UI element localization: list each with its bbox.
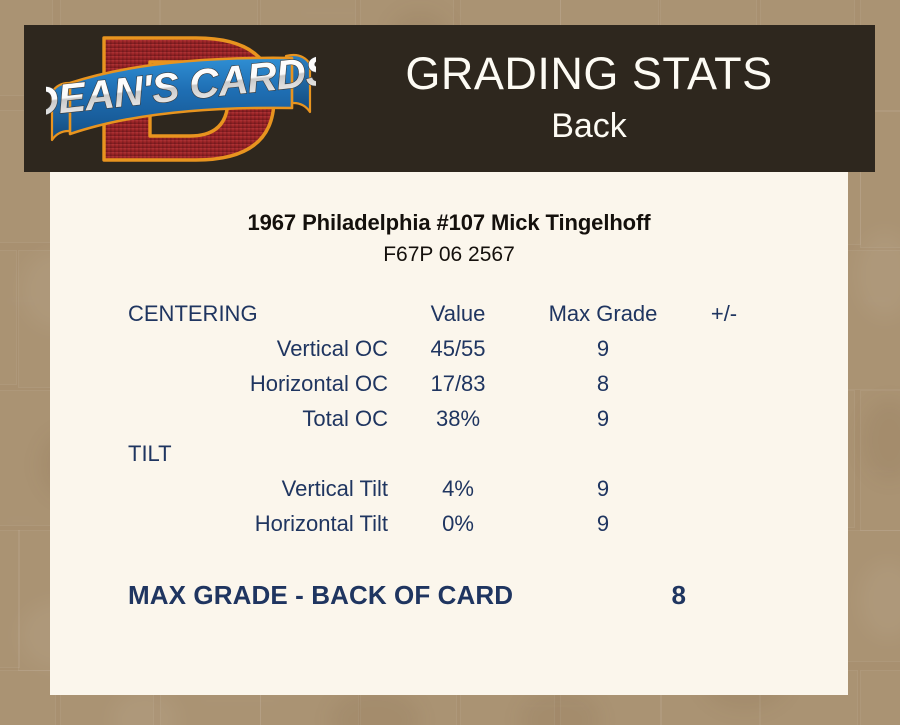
table-row: Vertical Tilt4%9 xyxy=(128,471,770,506)
card-heading: 1967 Philadelphia #107 Mick Tingelhoff F… xyxy=(50,209,848,269)
page-subtitle: Back xyxy=(324,105,854,147)
deans-cards-logo: DEAN'S CARDS xyxy=(46,28,316,170)
table-row: Horizontal OC17/838 xyxy=(128,366,770,401)
stat-max-grade: 9 xyxy=(528,331,678,366)
section-row-spacer xyxy=(528,436,678,471)
table-row: Total OC38%9 xyxy=(128,401,770,436)
stat-max-grade: 9 xyxy=(528,471,678,506)
stat-value: 45/55 xyxy=(388,331,528,366)
max-grade-value: 8 xyxy=(672,580,686,611)
max-grade-label: MAX GRADE - BACK OF CARD xyxy=(128,580,513,611)
stat-plus-minus xyxy=(678,506,770,541)
column-header-centering: CENTERING xyxy=(128,296,388,331)
page-title: GRADING STATS xyxy=(324,47,854,101)
header-bar: DEAN'S CARDS GRADING STATS Back xyxy=(24,25,875,172)
stat-max-grade: 9 xyxy=(528,401,678,436)
grading-stats-table: CENTERING Value Max Grade +/- Vertical O… xyxy=(128,296,770,541)
column-header-value: Value xyxy=(388,296,528,331)
column-header-plus-minus: +/- xyxy=(678,296,770,331)
stat-plus-minus xyxy=(678,471,770,506)
stat-label: Horizontal OC xyxy=(128,366,388,401)
max-grade-summary: MAX GRADE - BACK OF CARD 8 xyxy=(128,580,770,611)
table-section-row: TILT xyxy=(128,436,770,471)
stat-max-grade: 8 xyxy=(528,366,678,401)
table-row: Vertical OC45/559 xyxy=(128,331,770,366)
stat-max-grade: 9 xyxy=(528,506,678,541)
table-row: Horizontal Tilt0%9 xyxy=(128,506,770,541)
section-row-spacer xyxy=(388,436,528,471)
stat-plus-minus xyxy=(678,331,770,366)
section-header-tilt: TILT xyxy=(128,436,388,471)
stat-label: Vertical OC xyxy=(128,331,388,366)
card-title: 1967 Philadelphia #107 Mick Tingelhoff xyxy=(50,209,848,237)
grading-stats-body: Vertical OC45/559Horizontal OC17/838Tota… xyxy=(128,331,770,541)
content-panel: 1967 Philadelphia #107 Mick Tingelhoff F… xyxy=(50,172,848,695)
stat-value: 0% xyxy=(388,506,528,541)
section-row-spacer xyxy=(678,436,770,471)
card-serial: F67P 06 2567 xyxy=(50,241,848,269)
stat-value: 4% xyxy=(388,471,528,506)
stat-label: Horizontal Tilt xyxy=(128,506,388,541)
table-header-row: CENTERING Value Max Grade +/- xyxy=(128,296,770,331)
stat-plus-minus xyxy=(678,401,770,436)
stat-label: Total OC xyxy=(128,401,388,436)
header-title-block: GRADING STATS Back xyxy=(324,47,854,147)
stat-plus-minus xyxy=(678,366,770,401)
stat-label: Vertical Tilt xyxy=(128,471,388,506)
stat-value: 17/83 xyxy=(388,366,528,401)
stat-value: 38% xyxy=(388,401,528,436)
column-header-max-grade: Max Grade xyxy=(528,296,678,331)
